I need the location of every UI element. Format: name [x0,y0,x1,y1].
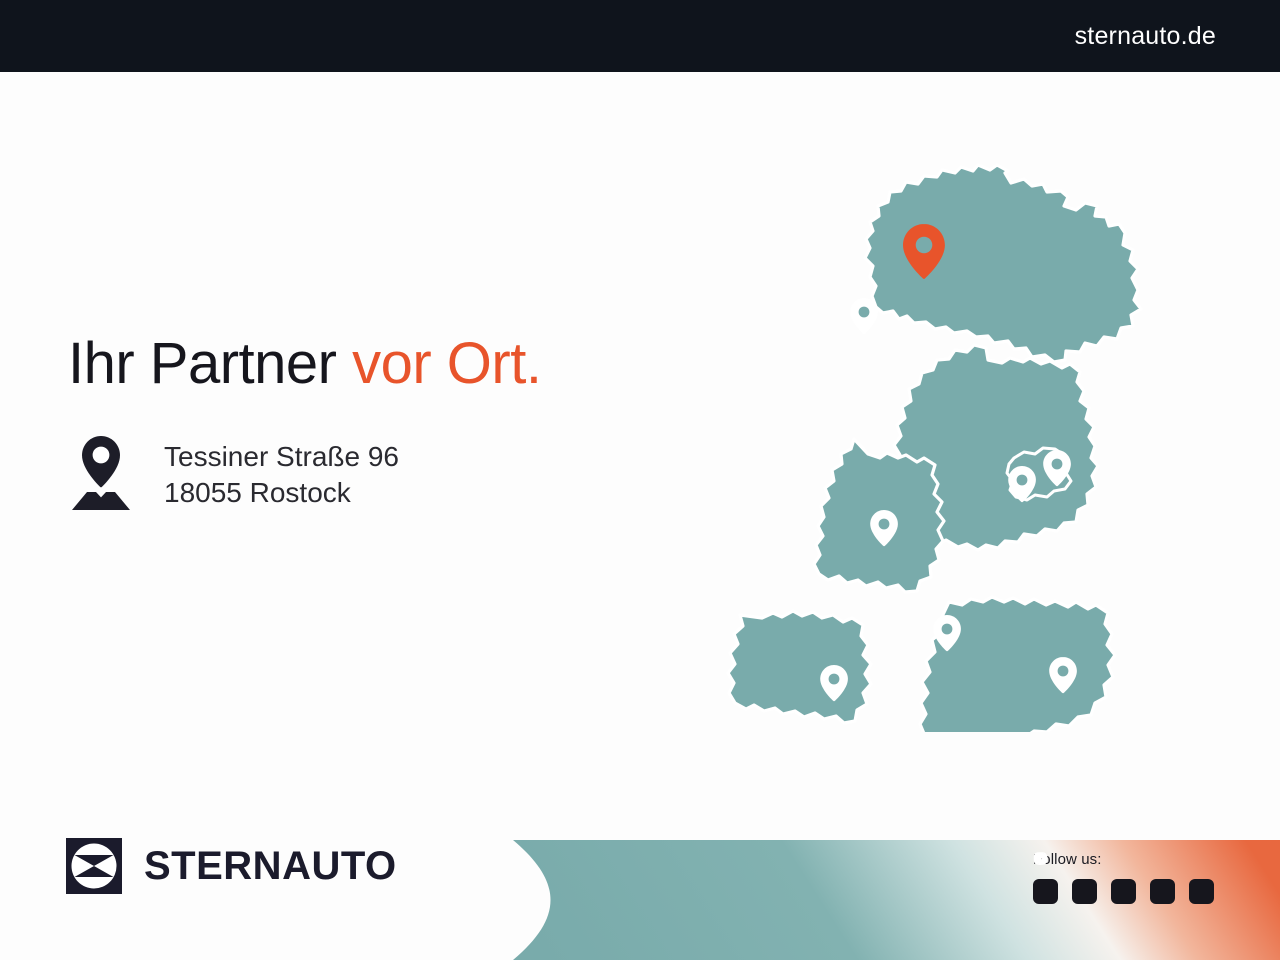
address-block: Tessiner Straße 96 18055 Rostock [68,434,399,512]
brand-logo[interactable]: STERNAUTO [66,838,397,894]
top-bar: sternauto.de [0,0,1280,72]
site-url-label: sternauto.de [1075,22,1280,51]
page-title: Ihr Partner vor Ort. [68,330,541,397]
germany-east-map [700,92,1240,732]
brand-name: STERNAUTO [144,844,397,889]
address-line-1: Tessiner Straße 96 [164,439,399,475]
location-pin-ground-icon [68,434,134,512]
instagram-icon[interactable] [1111,879,1136,904]
region-mecklenburg-vorpommern[interactable] [865,165,1141,362]
headline-accent: vor Ort. [352,331,541,396]
address-text: Tessiner Straße 96 18055 Rostock [164,434,399,511]
region-thueringen[interactable] [728,611,871,723]
page-canvas: Ihr Partner vor Ort. Tessiner Straße 96 … [0,72,1280,960]
headline-lead: Ihr Partner [68,331,337,396]
linkedin-icon[interactable] [1150,879,1175,904]
social-links [1033,879,1214,904]
facebook-icon[interactable] [1072,879,1097,904]
youtube-icon[interactable] [1033,879,1058,904]
sternauto-logo-icon [66,838,122,894]
map-marker-schwerin[interactable] [850,298,878,334]
map-svg [700,92,1240,732]
address-line-2: 18055 Rostock [164,475,399,511]
threads-icon[interactable] [1189,879,1214,904]
follow-us-block: Follow us: [1033,851,1214,904]
